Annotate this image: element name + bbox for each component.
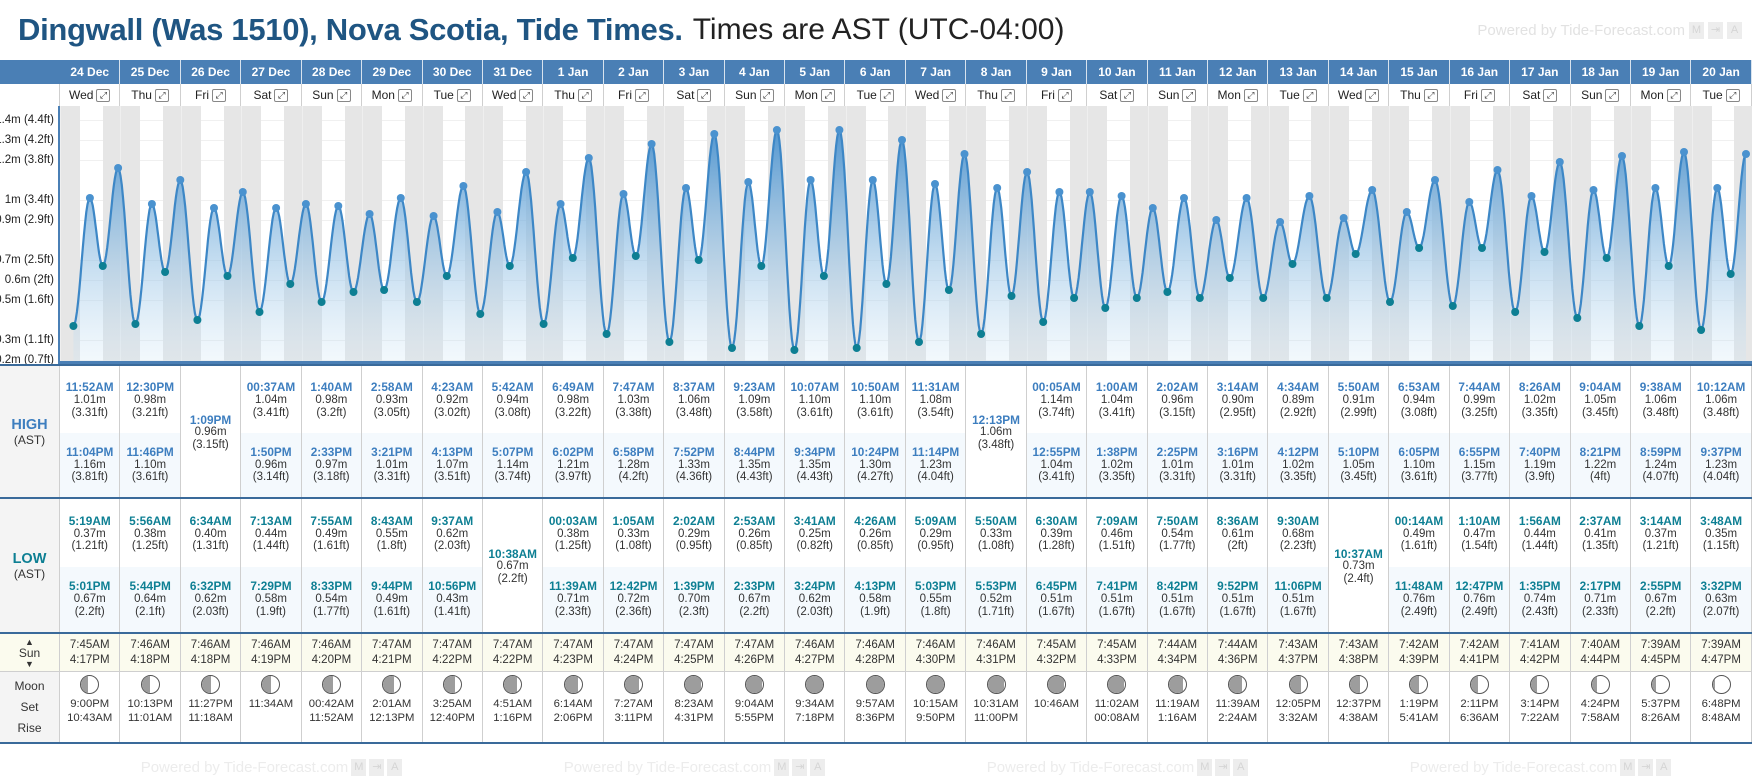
high-tide-time: 4:12PM <box>1277 446 1318 459</box>
sun-cell: 7:45AM4:33PM <box>1087 634 1147 671</box>
high-tide-feet: (3.35ft) <box>1280 471 1316 483</box>
high-tide-row-label: HIGH (AST) <box>0 366 60 497</box>
date-header-4-jan[interactable]: 4 Jan <box>725 60 785 84</box>
high-tide-feet: (3.21ft) <box>132 407 168 419</box>
date-header-27-dec[interactable]: 27 Dec <box>241 60 301 84</box>
expand-icon[interactable]: ⤢ <box>760 89 774 102</box>
moon-phase-icon <box>1289 675 1308 694</box>
moon-cell: 7:27AM3:11PM <box>604 672 664 742</box>
tide-chart: 1.4m (4.4ft)1.3m (4.2ft)1.2m (3.8ft)1m (… <box>0 106 1752 364</box>
date-header-29-dec[interactable]: 29 Dec <box>362 60 422 84</box>
high-tide-metres: 1.07m <box>436 459 468 471</box>
low-tide-feet: (2.33ft) <box>555 606 591 618</box>
low-tide-metres: 0.49m <box>315 528 347 540</box>
sunset-time: 4:36PM <box>1218 653 1258 667</box>
moonset-time: 9:04AM <box>735 697 774 711</box>
moon-cell: 8:23AM4:31PM <box>664 672 724 742</box>
expand-icon[interactable]: ⤢ <box>578 89 592 102</box>
moon-cell: 6:14AM2:06PM <box>543 672 603 742</box>
watermark-bottom-icon-1a: M <box>351 759 366 776</box>
expand-icon[interactable]: ⤢ <box>457 89 471 102</box>
low-tide-cell: 6:30AM0.39m(1.28ft)6:45PM0.51m(1.67ft) <box>1027 499 1087 632</box>
high-tide-metres: 0.99m <box>1463 394 1495 406</box>
high-tide-metres: 0.93m <box>376 394 408 406</box>
sunset-time: 4:30PM <box>916 653 956 667</box>
high-tide-metres: 1.08m <box>920 394 952 406</box>
expand-icon[interactable]: ⤢ <box>1244 89 1258 102</box>
low-tide-marker <box>820 272 828 280</box>
low-tide-time: 9:52PM <box>1217 580 1258 593</box>
low-tide-time: 9:44PM <box>371 580 412 593</box>
low-tide-metres: 0.29m <box>678 528 710 540</box>
date-header-20-jan[interactable]: 20 Jan <box>1691 60 1751 84</box>
moonset-time: 2:01AM <box>372 697 411 711</box>
low-tide-time: 1:39PM <box>673 580 714 593</box>
low-tide-marker <box>1070 294 1078 302</box>
moonset-time: 6:14AM <box>554 697 593 711</box>
high-tide-marker <box>557 200 565 208</box>
high-tide-marker <box>1494 166 1502 174</box>
high-tide-entry: 11:46PM1.10m(3.61ft) <box>120 433 179 498</box>
low-tide-time: 12:47PM <box>1455 580 1503 593</box>
low-tide-feet: (1.35ft) <box>1582 540 1618 552</box>
date-header-11-jan[interactable]: 11 Jan <box>1148 60 1208 84</box>
high-tide-marker <box>1713 184 1721 192</box>
high-tide-entry: 00:05AM1.14m(3.74ft) <box>1027 368 1086 433</box>
y-axis-tick-label: 0.9m (2.9ft) <box>0 214 54 226</box>
date-header-25-dec[interactable]: 25 Dec <box>120 60 180 84</box>
expand-icon[interactable]: ⤢ <box>1605 89 1619 102</box>
low-tide-cell: 3:48AM0.35m(1.15ft)3:32PM0.63m(2.07ft) <box>1691 499 1751 632</box>
high-tide-marker <box>1276 218 1284 226</box>
moon-phase-icon <box>503 675 522 694</box>
expand-icon[interactable]: ⤢ <box>212 89 226 102</box>
high-tide-feet: (3.74ft) <box>494 471 530 483</box>
moon-shadow <box>504 676 517 693</box>
high-tide-cell: 8:26AM1.02m(3.35ft)7:40PM1.19m(3.9ft) <box>1510 366 1570 497</box>
date-header-3-jan[interactable]: 3 Jan <box>664 60 724 84</box>
date-header-14-jan[interactable]: 14 Jan <box>1329 60 1389 84</box>
high-tide-entry: 9:34PM1.35m(4.43ft) <box>785 433 844 498</box>
moonrise-time: 2:24AM <box>1218 711 1257 725</box>
low-tide-marker <box>99 262 107 270</box>
expand-icon[interactable]: ⤢ <box>697 89 711 102</box>
expand-icon[interactable]: ⤢ <box>821 89 835 102</box>
high-tide-time: 2:02AM <box>1156 381 1198 394</box>
moon-cell: 3:25AM12:40PM <box>423 672 483 742</box>
date-header-18-jan[interactable]: 18 Jan <box>1571 60 1631 84</box>
low-tide-marker <box>1635 322 1643 330</box>
expand-icon[interactable]: ⤢ <box>337 89 351 102</box>
expand-icon[interactable]: ⤢ <box>1667 89 1681 102</box>
moon-shadow <box>746 676 762 693</box>
low-tide-feet: (2.2ft) <box>75 606 105 618</box>
date-header-7-jan[interactable]: 7 Jan <box>906 60 966 84</box>
high-tide-marker <box>1680 148 1688 156</box>
high-tide-marker <box>682 184 690 192</box>
high-tide-feet: (3.45ft) <box>1582 407 1618 419</box>
low-tide-feet: (1.8ft) <box>921 606 951 618</box>
high-tide-metres: 1.22m <box>1584 459 1616 471</box>
sunset-time: 4:21PM <box>372 653 412 667</box>
moon-shadow <box>1410 676 1419 693</box>
high-tide-marker <box>1212 216 1220 224</box>
chart-plot-area <box>60 106 1752 364</box>
low-tide-feet: (2.3ft) <box>679 606 709 618</box>
expand-icon[interactable]: ⤢ <box>1001 89 1015 102</box>
weekday-cell-sat: Sat⤢ <box>241 84 301 106</box>
high-tide-marker <box>334 202 342 210</box>
y-axis-tick-label: 0.5m (1.6ft) <box>0 294 54 306</box>
low-tide-metres: 0.63m <box>1705 593 1737 605</box>
low-tide-marker <box>380 286 388 294</box>
low-tide-entry: 10:38AM0.67m(2.2ft) <box>483 501 542 632</box>
weekday-cell-wed: Wed⤢ <box>1329 84 1389 106</box>
moon-shadow <box>1290 676 1302 693</box>
sun-cell: 7:46AM4:19PM <box>241 634 301 671</box>
low-tide-feet: (1.51ft) <box>1099 540 1135 552</box>
watermark-bottom-icon-4c: A <box>1656 759 1671 776</box>
date-header-31-dec[interactable]: 31 Dec <box>483 60 543 84</box>
moonrise-time: 7:18PM <box>795 711 834 725</box>
moon-cell: 9:57AM8:36PM <box>845 672 905 742</box>
expand-icon[interactable]: ⤢ <box>942 89 956 102</box>
sun-cell: 7:46AM4:27PM <box>785 634 845 671</box>
high-tide-feet: (3.58ft) <box>736 407 772 419</box>
moon-phase-icon <box>201 675 220 694</box>
date-header-19-jan[interactable]: 19 Jan <box>1631 60 1691 84</box>
low-tide-time: 9:30AM <box>1277 515 1319 528</box>
low-tide-marker <box>69 322 77 330</box>
watermark-bottom-4: Powered by Tide-Forecast.com M ⇥ A <box>1410 759 1672 776</box>
low-label: LOW <box>13 551 47 567</box>
high-tide-metres: 0.91m <box>1343 394 1375 406</box>
high-tide-feet: (3.22ft) <box>555 407 591 419</box>
low-tide-entry: 6:45PM0.51m(1.67ft) <box>1027 567 1086 633</box>
high-tide-feet: (3.41ft) <box>1099 407 1135 419</box>
high-tide-feet: (4.04ft) <box>917 471 953 483</box>
moonset-time: 11:02AM <box>1095 697 1139 711</box>
low-tide-metres: 0.38m <box>134 528 166 540</box>
high-tide-feet: (3.61ft) <box>797 407 833 419</box>
high-tide-metres: 0.92m <box>436 394 468 406</box>
low-tide-time: 2:17PM <box>1580 580 1621 593</box>
low-tide-feet: (2.07ft) <box>1703 606 1739 618</box>
sunset-time: 4:47PM <box>1701 653 1741 667</box>
high-tide-feet: (3.31ft) <box>374 471 410 483</box>
low-tide-metres: 0.67m <box>738 593 770 605</box>
low-tide-time: 7:55AM <box>310 515 352 528</box>
sun-cell: 7:47AM4:26PM <box>725 634 785 671</box>
high-tide-feet: (4.36ft) <box>676 471 712 483</box>
high-tide-entry: 5:50AM0.91m(2.99ft) <box>1329 368 1388 433</box>
low-tide-time: 7:41PM <box>1096 580 1137 593</box>
moonrise-time: 7:22AM <box>1520 711 1559 725</box>
date-header-row: 24 Dec25 Dec26 Dec27 Dec28 Dec29 Dec30 D… <box>0 60 1752 84</box>
expand-icon[interactable]: ⤢ <box>1182 89 1196 102</box>
low-tide-entry: 8:36AM0.61m(2ft) <box>1208 501 1267 567</box>
moon-phase-icon <box>1047 675 1066 694</box>
high-tide-time: 4:34AM <box>1277 381 1319 394</box>
low-tide-metres: 0.37m <box>1645 528 1677 540</box>
weekday-cell-thu: Thu⤢ <box>120 84 180 106</box>
low-tide-metres: 0.67m <box>74 593 106 605</box>
low-tide-feet: (2.4ft) <box>1344 573 1374 585</box>
low-tide-cell: 9:30AM0.68m(2.23ft)11:06PM0.51m(1.67ft) <box>1268 499 1328 632</box>
low-tide-metres: 0.54m <box>1161 528 1193 540</box>
high-tide-cell: 6:49AM0.98m(3.22ft)6:02PM1.21m(3.97ft) <box>543 366 603 497</box>
high-tide-time: 9:37PM <box>1700 446 1741 459</box>
moonrise-time: 11:18AM <box>188 711 232 725</box>
date-header-12-jan[interactable]: 12 Jan <box>1208 60 1268 84</box>
moonrise-time: 8:48AM <box>1702 711 1741 725</box>
date-header-2-jan[interactable]: 2 Jan <box>604 60 664 84</box>
sunset-time: 4:17PM <box>70 653 110 667</box>
moonrise-time: 2:06PM <box>554 711 593 725</box>
date-header-28-dec[interactable]: 28 Dec <box>302 60 362 84</box>
sunrise-time: 7:46AM <box>916 638 956 652</box>
expand-icon[interactable]: ⤢ <box>1726 89 1740 102</box>
expand-icon[interactable]: ⤢ <box>274 89 288 102</box>
sun-cell: 7:42AM4:41PM <box>1450 634 1510 671</box>
expand-icon[interactable]: ⤢ <box>519 89 533 102</box>
low-tide-entry: 11:48AM0.76m(2.49ft) <box>1389 567 1448 633</box>
high-tide-marker <box>430 212 438 220</box>
low-tide-entry: 10:56PM0.43m(1.41ft) <box>423 567 482 633</box>
high-tide-time: 8:21PM <box>1580 446 1621 459</box>
low-tide-cell: 2:02AM0.29m(0.95ft)1:39PM0.70m(2.3ft) <box>664 499 724 632</box>
moonset-time: 9:34AM <box>795 697 834 711</box>
moon-cell: 12:37PM4:38AM <box>1329 672 1389 742</box>
high-tide-entry: 10:07AM1.10m(3.61ft) <box>785 368 844 433</box>
low-tide-cell: 1:10AM0.47m(1.54ft)12:47PM0.76m(2.49ft) <box>1450 499 1510 632</box>
sunset-time: 4:42PM <box>1520 653 1560 667</box>
high-tide-entry: 12:55PM1.04m(3.41ft) <box>1027 433 1086 498</box>
moonset-time: 12:37PM <box>1336 697 1381 711</box>
moonset-time: 11:27PM <box>188 697 232 711</box>
low-tide-time: 00:14AM <box>1395 515 1444 528</box>
date-header-26-dec[interactable]: 26 Dec <box>181 60 241 84</box>
date-header-15-jan[interactable]: 15 Jan <box>1389 60 1449 84</box>
expand-icon[interactable]: ⤢ <box>1543 89 1557 102</box>
moonrise-time: 3:11PM <box>614 711 652 725</box>
high-tide-feet: (4.27ft) <box>857 471 893 483</box>
date-header-30-dec[interactable]: 30 Dec <box>423 60 483 84</box>
low-tide-time: 2:53AM <box>733 515 775 528</box>
low-tide-entry: 2:33PM0.67m(2.2ft) <box>725 567 784 633</box>
date-header-1-jan[interactable]: 1 Jan <box>543 60 603 84</box>
high-tide-cell: 12:13PM1.06m(3.48ft) <box>966 366 1026 497</box>
high-tide-marker <box>1023 168 1031 176</box>
high-tide-entry: 8:44PM1.35m(4.43ft) <box>725 433 784 498</box>
low-tide-feet: (1.41ft) <box>434 606 470 618</box>
moonrise-time: 11:34AM <box>249 697 293 711</box>
high-tide-metres: 1.01m <box>1161 459 1193 471</box>
low-tide-cell: 3:41AM0.25m(0.82ft)3:24PM0.62m(2.03ft) <box>785 499 845 632</box>
expand-icon[interactable]: ⤢ <box>1303 89 1317 102</box>
sunset-time: 4:20PM <box>312 653 352 667</box>
high-tide-time: 6:49AM <box>552 381 594 394</box>
weekday-cell-fri: Fri⤢ <box>181 84 241 106</box>
low-tide-time: 6:34AM <box>190 515 232 528</box>
sun-cell: 7:41AM4:42PM <box>1510 634 1570 671</box>
high-tide-metres: 1.06m <box>1705 394 1737 406</box>
low-tide-time: 1:10AM <box>1458 515 1500 528</box>
high-tide-marker <box>744 178 752 186</box>
low-tide-marker <box>224 272 232 280</box>
low-tide-feet: (1.08ft) <box>615 540 651 552</box>
moonrise-time: 11:01AM <box>128 711 172 725</box>
date-header-13-jan[interactable]: 13 Jan <box>1268 60 1328 84</box>
high-tide-feet: (3.25ft) <box>1461 407 1497 419</box>
expand-icon[interactable]: ⤢ <box>398 89 412 102</box>
high-tide-marker <box>1590 186 1598 194</box>
moon-phase-icon <box>141 675 160 694</box>
moonrise-time: 00:08AM <box>1094 711 1139 725</box>
watermark-bottom-text-4: Powered by Tide-Forecast.com <box>1410 759 1618 776</box>
low-tide-time: 2:55PM <box>1640 580 1681 593</box>
high-tide-feet: (3.08ft) <box>1401 407 1437 419</box>
high-tide-marker <box>1340 214 1348 222</box>
date-header-24-dec[interactable]: 24 Dec <box>60 60 120 84</box>
weekday-label: Mon <box>795 88 818 102</box>
high-tide-time: 10:07AM <box>791 381 840 394</box>
expand-icon[interactable]: ⤢ <box>1365 89 1379 102</box>
sunrise-time: 7:47AM <box>372 638 412 652</box>
moon-cell: 11:27PM11:18AM <box>181 672 241 742</box>
expand-icon[interactable]: ⤢ <box>1120 89 1134 102</box>
date-header-6-jan[interactable]: 6 Jan <box>845 60 905 84</box>
moon-phase-icon <box>745 675 764 694</box>
low-tide-time: 3:32PM <box>1700 580 1741 593</box>
y-axis-tick-label: 0.7m (2.5ft) <box>0 254 54 266</box>
low-tide-metres: 0.25m <box>799 528 831 540</box>
low-tide-metres: 0.72m <box>618 593 650 605</box>
low-tide-feet: (1.21ft) <box>1642 540 1678 552</box>
y-axis-tick-label: 1m (3.4ft) <box>5 194 54 206</box>
high-tide-time: 5:07PM <box>492 446 533 459</box>
watermark-top: Powered by Tide-Forecast.com M ⇥ A <box>1477 22 1742 39</box>
weekday-cell-fri: Fri⤢ <box>1450 84 1510 106</box>
expand-icon[interactable]: ⤢ <box>1481 89 1495 102</box>
low-tide-cell: 7:50AM0.54m(1.77ft)8:42PM0.51m(1.67ft) <box>1148 499 1208 632</box>
high-tide-marker <box>148 200 156 208</box>
moonrise-time: 12:13PM <box>369 711 414 725</box>
low-tide-time: 3:48AM <box>1700 515 1742 528</box>
low-tide-metres: 0.37m <box>74 528 106 540</box>
weekday-label: Thu <box>554 88 575 102</box>
high-tide-time: 8:59PM <box>1640 446 1681 459</box>
low-tide-time: 1:05AM <box>613 515 655 528</box>
low-tide-entry: 6:32PM0.62m(2.03ft) <box>181 567 240 633</box>
low-tide-marker <box>1541 248 1549 256</box>
high-tide-cell: 2:02AM0.96m(3.15ft)2:25PM1.01m(3.31ft) <box>1148 366 1208 497</box>
moon-shadow <box>1713 676 1715 693</box>
high-tide-feet: (3.97ft) <box>555 471 591 483</box>
moonset-time: 7:27AM <box>614 697 653 711</box>
high-tide-time: 3:16PM <box>1217 446 1258 459</box>
low-tide-entry: 5:09AM0.29m(0.95ft) <box>906 501 965 567</box>
low-tide-marker <box>1449 302 1457 310</box>
moonrise-time: 11:00PM <box>974 711 1018 725</box>
date-header-5-jan[interactable]: 5 Jan <box>785 60 845 84</box>
high-tide-marker <box>366 210 374 218</box>
moon-cell: 10:15AM9:50PM <box>906 672 966 742</box>
date-header-16-jan[interactable]: 16 Jan <box>1450 60 1510 84</box>
expand-icon[interactable]: ⤢ <box>96 89 110 102</box>
low-tide-feet: (1.61ft) <box>1401 540 1437 552</box>
high-tide-feet: (2.99ft) <box>1340 407 1376 419</box>
sunset-arrow-icon: ▼ <box>25 660 34 668</box>
expand-icon[interactable]: ⤢ <box>880 89 894 102</box>
moon-phase-icon <box>1228 675 1247 694</box>
date-header-10-jan[interactable]: 10 Jan <box>1087 60 1147 84</box>
low-tide-entry: 12:42PM0.72m(2.36ft) <box>604 567 663 633</box>
low-tide-time: 1:35PM <box>1519 580 1560 593</box>
high-tide-feet: (3.14ft) <box>253 471 289 483</box>
low-tide-cell: 8:36AM0.61m(2ft)9:52PM0.51m(1.67ft) <box>1208 499 1268 632</box>
weekday-label: Fri <box>1041 88 1055 102</box>
low-tide-metres: 0.39m <box>1040 528 1072 540</box>
high-tide-metres: 0.94m <box>497 394 529 406</box>
weekday-label: Thu <box>131 88 152 102</box>
high-tide-time: 4:13PM <box>432 446 473 459</box>
weekday-cell-wed: Wed⤢ <box>483 84 543 106</box>
sunrise-time: 7:46AM <box>976 638 1016 652</box>
date-header-17-jan[interactable]: 17 Jan <box>1510 60 1570 84</box>
weekday-cell-thu: Thu⤢ <box>1389 84 1449 106</box>
date-header-9-jan[interactable]: 9 Jan <box>1027 60 1087 84</box>
low-tide-marker <box>1386 298 1394 306</box>
moon-cell: 1:19PM5:41AM <box>1389 672 1449 742</box>
moonset-time: 9:00PM <box>70 697 109 711</box>
high-tide-entry: 6:05PM1.10m(3.61ft) <box>1389 433 1448 498</box>
high-tide-feet: (3.48ft) <box>978 439 1014 451</box>
low-tide-entry: 9:52PM0.51m(1.67ft) <box>1208 567 1267 633</box>
moon-row-label: Moon Set Rise <box>0 672 60 742</box>
low-tide-marker <box>1665 262 1673 270</box>
moon-phase-icon <box>322 675 341 694</box>
expand-icon[interactable]: ⤢ <box>635 89 649 102</box>
low-tide-cell: 5:50AM0.33m(1.08ft)5:53PM0.52m(1.71ft) <box>966 499 1026 632</box>
date-header-8-jan[interactable]: 8 Jan <box>966 60 1026 84</box>
high-tide-time: 1:00AM <box>1096 381 1138 394</box>
moonrise-label: Rise <box>17 721 41 735</box>
moon-shadow <box>806 676 822 693</box>
weekday-label: Thu <box>977 88 998 102</box>
weekday-label: Mon <box>1641 88 1664 102</box>
high-tide-time: 5:42AM <box>492 381 534 394</box>
low-tide-entry: 9:30AM0.68m(2.23ft) <box>1268 501 1327 567</box>
expand-icon[interactable]: ⤢ <box>1424 89 1438 102</box>
weekday-label: Mon <box>372 88 395 102</box>
low-tide-feet: (1.15ft) <box>1703 540 1739 552</box>
low-tide-entry: 10:37AM0.73m(2.4ft) <box>1329 501 1388 632</box>
moon-shadow <box>1169 676 1183 693</box>
low-tide-entry: 5:50AM0.33m(1.08ft) <box>966 501 1025 567</box>
moon-shadow <box>1652 676 1655 693</box>
high-tide-entry: 2:25PM1.01m(3.31ft) <box>1148 433 1207 498</box>
low-tide-time: 10:56PM <box>428 580 476 593</box>
expand-icon[interactable]: ⤢ <box>155 89 169 102</box>
high-tide-metres: 1.23m <box>1705 459 1737 471</box>
high-tide-entry: 7:52PM1.33m(4.36ft) <box>664 433 723 498</box>
expand-icon[interactable]: ⤢ <box>1058 89 1072 102</box>
high-tide-marker <box>1403 208 1411 216</box>
low-tide-cell: 6:34AM0.40m(1.31ft)6:32PM0.62m(2.03ft) <box>181 499 241 632</box>
sunrise-time: 7:42AM <box>1399 638 1439 652</box>
watermark-bottom-text-1: Powered by Tide-Forecast.com <box>141 759 349 776</box>
